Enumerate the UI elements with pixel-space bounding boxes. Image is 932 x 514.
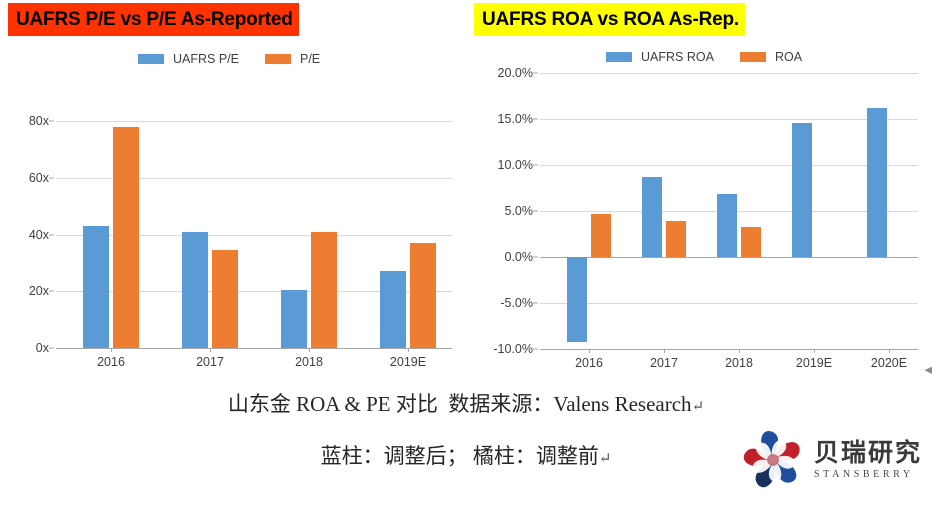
ytick-label-0x: 0x	[36, 341, 49, 355]
xtick-label-2020e: 2020E	[871, 356, 907, 370]
ytick-label-neg5pct: -5.0%	[500, 296, 533, 310]
xtick-mark-2019e	[408, 348, 409, 352]
bar-uafrs-pe-2017	[182, 232, 208, 348]
xtick-label-2016: 2016	[575, 356, 603, 370]
ytick-mark-5pct	[533, 211, 538, 212]
xtick-label-2019e: 2019E	[390, 355, 426, 369]
logo-name-en: STANSBERRY	[814, 469, 922, 480]
ytick-mark-10pct	[533, 165, 538, 166]
legend-swatch-blue	[606, 52, 632, 62]
xtick-label-2018: 2018	[725, 356, 753, 370]
bar-roa-2016	[591, 214, 611, 257]
x-axis-line	[56, 348, 452, 349]
ytick-label-40x: 40x	[29, 228, 49, 242]
ytick-label-15pct: 15.0%	[498, 112, 533, 126]
ytick-label-10pct: 10.0%	[498, 158, 533, 172]
ytick-mark-0pct	[533, 257, 538, 258]
pe-chart-legend: UAFRS P/E P/E	[138, 52, 320, 66]
caption-line-1-text: 山东金 ROA & PE 对比 数据来源：Valens Research	[228, 392, 692, 416]
ytick-mark-60x	[49, 177, 54, 178]
ytick-label-5pct: 5.0%	[505, 204, 534, 218]
legend-label-uafrs-roa: UAFRS ROA	[641, 50, 714, 64]
xtick-label-2016: 2016	[97, 355, 125, 369]
gridline-10pct	[540, 165, 918, 166]
logo-name-cn: 贝瑞研究	[814, 440, 922, 466]
ytick-label-neg10pct: -10.0%	[493, 342, 533, 356]
ytick-mark-20pct	[533, 73, 538, 74]
xtick-mark-2018	[309, 348, 310, 352]
ytick-mark-15pct	[533, 119, 538, 120]
bar-uafrs-roa-2018	[717, 194, 737, 257]
ytick-label-20pct: 20.0%	[498, 66, 533, 80]
xtick-mark-2019e	[814, 349, 815, 353]
caption-line-2-text: 蓝柱：调整后； 橘柱：调整前	[321, 444, 599, 468]
ytick-mark-40x	[49, 234, 54, 235]
legend-item-roa: ROA	[740, 50, 802, 64]
bar-uafrs-roa-2019e	[792, 123, 812, 257]
bar-pe-2018	[311, 232, 337, 348]
xtick-mark-2018	[739, 349, 740, 353]
bar-pe-2017	[212, 250, 238, 348]
paragraph-mark-icon: ↵	[692, 399, 705, 415]
legend-swatch-blue	[138, 54, 164, 64]
ytick-mark-0x	[49, 348, 54, 349]
slide-canvas: UAFRS P/E vs P/E As-Reported UAFRS P/E P…	[0, 0, 932, 514]
bar-pe-2019e	[410, 243, 436, 348]
xtick-mark-2017	[664, 349, 665, 353]
legend-item-uafrs-pe: UAFRS P/E	[138, 52, 239, 66]
bar-pe-2016	[113, 127, 139, 348]
legend-item-pe: P/E	[265, 52, 320, 66]
stansberry-logo: 贝瑞研究 STANSBERRY	[740, 424, 922, 496]
bar-uafrs-pe-2019e	[380, 271, 406, 348]
pinwheel-logo-icon	[740, 427, 806, 493]
gridline-20pct	[540, 73, 918, 74]
xtick-mark-2017	[210, 348, 211, 352]
logo-wordmark: 贝瑞研究 STANSBERRY	[814, 440, 922, 479]
ytick-mark-neg5pct	[533, 303, 538, 304]
caption-line-1: 山东金 ROA & PE 对比 数据来源：Valens Research↵	[0, 388, 932, 418]
ytick-mark-neg10pct	[533, 349, 538, 350]
xtick-label-2017: 2017	[196, 355, 224, 369]
roa-chart-title: UAFRS ROA vs ROA As-Rep.	[474, 3, 745, 36]
ytick-mark-20x	[49, 291, 54, 292]
paragraph-mark-icon: ↵	[599, 451, 612, 467]
xtick-label-2019e: 2019E	[796, 356, 832, 370]
bar-uafrs-roa-2017	[642, 177, 662, 257]
bar-roa-2018	[741, 227, 761, 257]
bar-uafrs-roa-2016	[567, 257, 587, 342]
ytick-mark-80x	[49, 121, 54, 122]
bar-roa-2017	[666, 221, 686, 257]
legend-label-roa: ROA	[775, 50, 802, 64]
bar-uafrs-pe-2018	[281, 290, 307, 348]
gridline-15pct	[540, 119, 918, 120]
legend-swatch-orange	[265, 54, 291, 64]
legend-label-uafrs-pe: UAFRS P/E	[173, 52, 239, 66]
xtick-mark-2020e	[889, 349, 890, 353]
pe-chart-plot: 80x 60x 40x 20x 0x 2016 2017	[56, 121, 452, 348]
bar-uafrs-pe-2016	[83, 226, 109, 348]
gridline-0pct	[540, 257, 918, 258]
pe-chart-panel: UAFRS P/E vs P/E As-Reported UAFRS P/E P…	[0, 0, 466, 375]
roa-chart-plot: 20.0% 15.0% 10.0% 5.0% 0.0% -5.0% -10.0%	[540, 73, 918, 349]
ytick-label-20x: 20x	[29, 284, 49, 298]
gridline-80x	[56, 121, 452, 122]
ytick-label-60x: 60x	[29, 171, 49, 185]
legend-label-pe: P/E	[300, 52, 320, 66]
xtick-label-2017: 2017	[650, 356, 678, 370]
xtick-label-2018: 2018	[295, 355, 323, 369]
gridline-neg5pct	[540, 303, 918, 304]
roa-chart-panel: UAFRS ROA vs ROA As-Rep. UAFRS ROA ROA 2…	[466, 0, 932, 375]
ytick-label-0pct: 0.0%	[505, 250, 534, 264]
edge-arrow-icon: ◄	[922, 364, 932, 376]
pe-chart-title: UAFRS P/E vs P/E As-Reported	[8, 3, 299, 36]
legend-item-uafrs-roa: UAFRS ROA	[606, 50, 714, 64]
bar-uafrs-roa-2020e	[867, 108, 887, 257]
roa-chart-legend: UAFRS ROA ROA	[606, 50, 802, 64]
xtick-mark-2016	[111, 348, 112, 352]
ytick-label-80x: 80x	[29, 114, 49, 128]
legend-swatch-orange	[740, 52, 766, 62]
xtick-mark-2016	[589, 349, 590, 353]
x-axis-line	[540, 349, 918, 350]
